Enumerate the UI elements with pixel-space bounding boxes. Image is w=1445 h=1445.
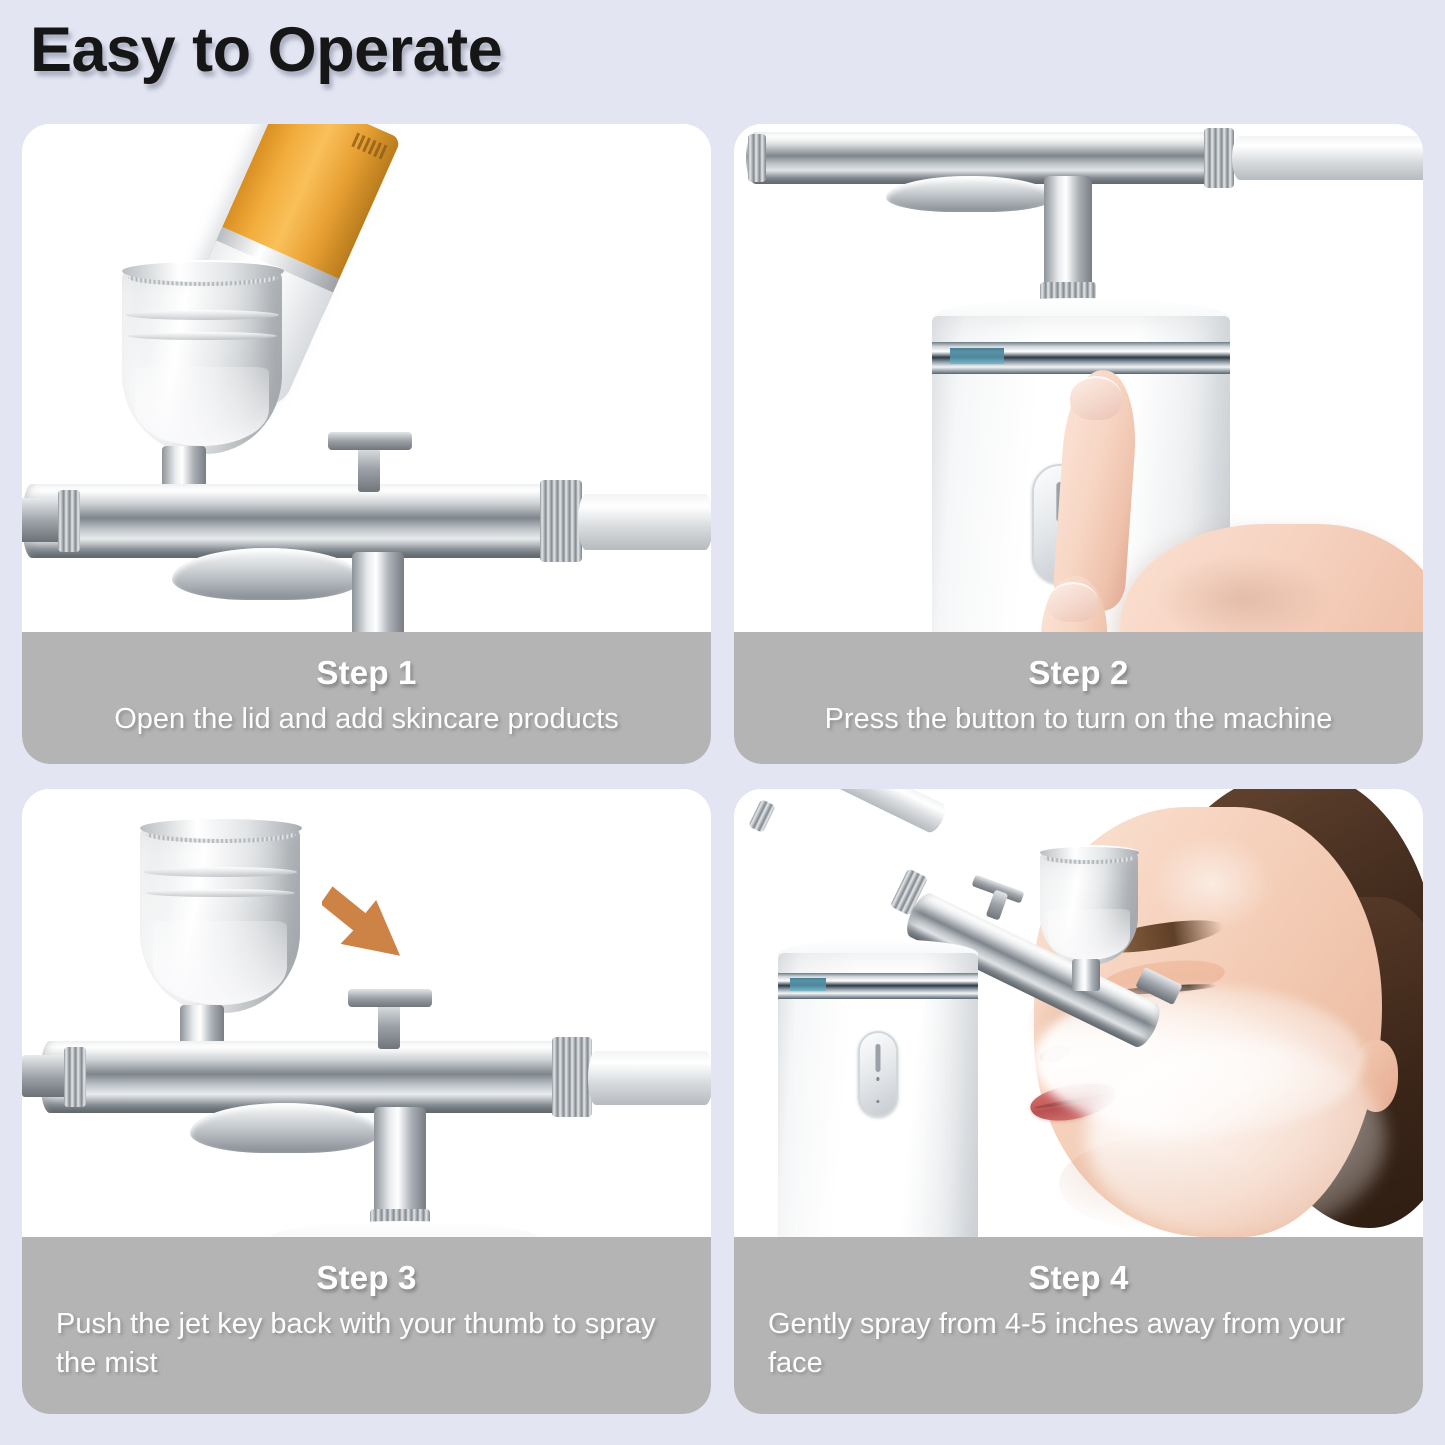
step-4-photo	[734, 789, 1423, 1237]
airbrush-cup-3	[140, 821, 300, 1013]
airbrush-cup-band	[126, 310, 279, 320]
step-card-4[interactable]: Step 4 Gently spray from 4-5 inches away…	[734, 789, 1423, 1414]
step-1-photo	[22, 124, 711, 632]
airbrush-needle-cap	[22, 498, 62, 542]
airbrush-jet-key-stem-3[interactable]	[378, 1003, 400, 1049]
airbrush-jet-key-stem	[358, 446, 380, 492]
airbrush-knurled-ring-top	[1204, 128, 1234, 188]
airbrush-cup-band-2	[128, 332, 277, 340]
airbrush-rear-ring-3	[64, 1047, 86, 1107]
airbrush-barrel	[22, 484, 570, 558]
step-1-description: Open the lid and add skincare products	[56, 700, 677, 738]
step-2-caption: Step 2 Press the button to turn on the m…	[734, 632, 1423, 764]
airbrush-air-connector	[352, 552, 404, 632]
step-2-description: Press the button to turn on the machine	[768, 700, 1389, 738]
airbrush-jet-key-stem-4	[986, 889, 1009, 920]
power-button-slot-4	[875, 1044, 880, 1072]
step-2-label: Step 2	[768, 654, 1389, 692]
airbrush-rear-ring-4	[748, 799, 776, 833]
step-3-caption: Step 3 Push the jet key back with your t…	[22, 1237, 711, 1414]
power-button-dot-4	[876, 1077, 879, 1080]
airbrush-tail	[578, 494, 711, 550]
step-card-1[interactable]: Step 1 Open the lid and add skincare pro…	[22, 124, 711, 764]
airbrush-cup	[122, 264, 282, 454]
step-2-photo	[734, 124, 1423, 632]
step-3-description: Push the jet key back with your thumb to…	[56, 1305, 677, 1382]
step-3-photo	[22, 789, 711, 1237]
airbrush-cup-band-3b	[146, 889, 295, 897]
step-4-label: Step 4	[768, 1259, 1389, 1297]
steps-grid: Step 1 Open the lid and add skincare pro…	[22, 124, 1423, 1414]
airbrush-cup-rim-3	[140, 817, 302, 839]
device-base-top-cap-3	[270, 1221, 538, 1237]
airbrush-knurled-ring	[540, 480, 582, 562]
airbrush-cup-4	[1040, 849, 1138, 965]
airbrush-barrel-3	[40, 1041, 580, 1113]
airbrush-tail-4	[773, 789, 949, 835]
index-finger-nail	[1070, 376, 1122, 420]
airbrush-cup-rim	[122, 260, 284, 282]
airbrush-cup-stem-4	[1072, 959, 1100, 991]
step-4-description: Gently spray from 4-5 inches away from y…	[768, 1305, 1389, 1382]
airbrush-cup-band-3	[144, 867, 297, 877]
power-button-dot-4b	[876, 1100, 879, 1103]
airbrush-tail-top	[1232, 136, 1423, 180]
airbrush-rear-ring	[58, 490, 80, 552]
page-title: Easy to Operate	[30, 14, 502, 86]
step-3-label: Step 3	[56, 1259, 677, 1297]
device-base-chrome-ring	[932, 342, 1230, 374]
airbrush-knurled-ring-3	[552, 1037, 592, 1117]
thumb-nail	[1048, 582, 1098, 622]
airbrush-trigger-top	[886, 176, 1054, 212]
device-base-chrome-ring-4	[778, 973, 978, 999]
airbrush-tail-3	[588, 1051, 711, 1105]
airbrush-needle-cap-3	[22, 1055, 66, 1097]
step-4-caption: Step 4 Gently spray from 4-5 inches away…	[734, 1237, 1423, 1414]
step-1-label: Step 1	[56, 654, 677, 692]
orange-arrow-icon	[322, 873, 432, 983]
airbrush-rear-ring-top	[748, 134, 766, 182]
step-card-3[interactable]: Step 3 Push the jet key back with your t…	[22, 789, 711, 1414]
step-card-2[interactable]: Step 2 Press the button to turn on the m…	[734, 124, 1423, 764]
device-power-button-4[interactable]	[858, 1031, 898, 1117]
step-1-caption: Step 1 Open the lid and add skincare pro…	[22, 632, 711, 764]
airbrush-jet-key-head	[328, 432, 412, 450]
airbrush-cup-rim-4	[1040, 845, 1139, 860]
airbrush-jet-key-head-3[interactable]	[348, 989, 432, 1007]
